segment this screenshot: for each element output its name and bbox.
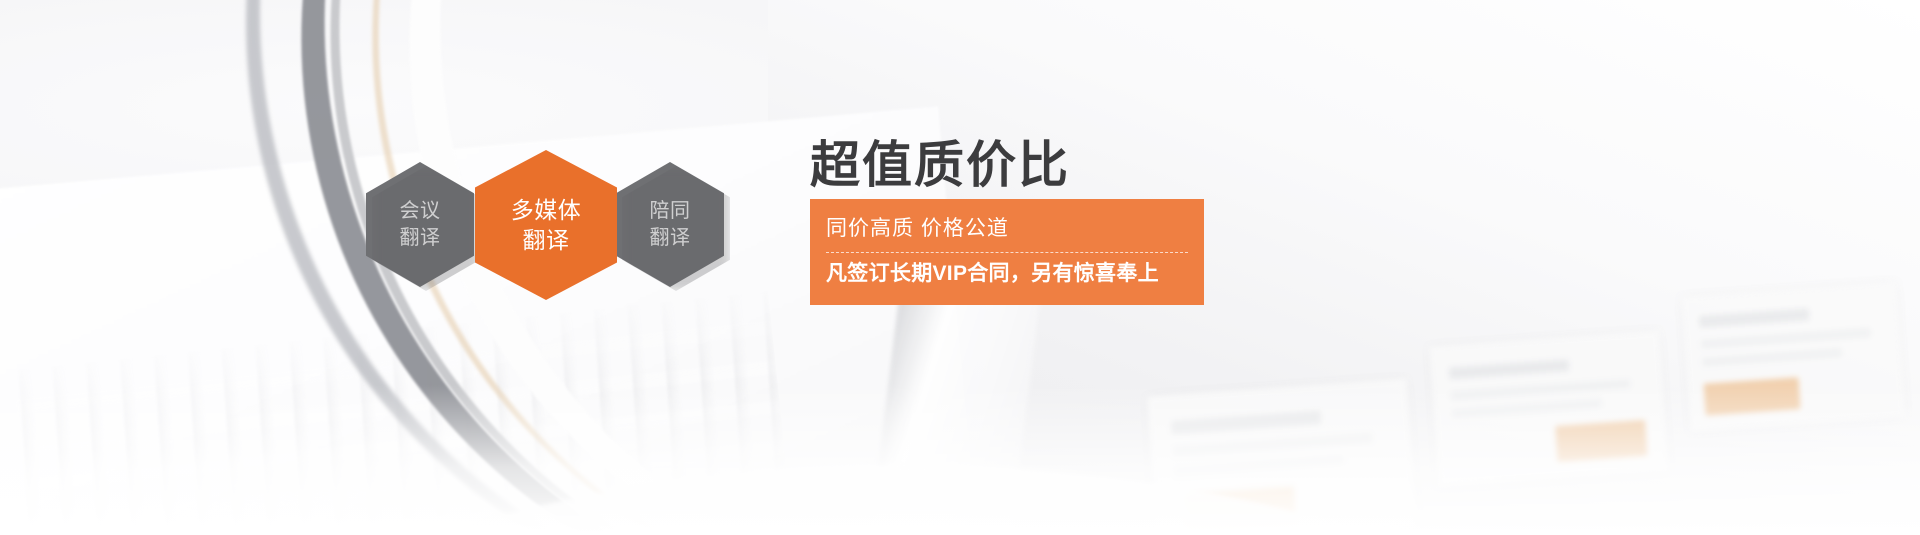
background-bottom-fade [0, 385, 1920, 535]
hexagon-label-line-1: 多媒体 [511, 195, 582, 225]
page-title: 超值质价比 [810, 136, 1290, 195]
hexagon-label-line-2: 翻译 [523, 225, 570, 255]
promo-divider [826, 252, 1188, 253]
promo-offer-text: 凡签订长期VIP合同，另有惊喜奉上 [810, 259, 1204, 289]
copy-block: 超值质价比 [810, 136, 1290, 195]
service-hexagon-group: 会议 翻译 陪同 翻译 多媒体 翻译 [366, 150, 726, 300]
promo-tagline: 同价高质 价格公道 [810, 213, 1204, 245]
promo-panel: 同价高质 价格公道 凡签订长期VIP合同，另有惊喜奉上 [810, 199, 1204, 305]
promo-banner: 会议 翻译 陪同 翻译 多媒体 翻译 超值质价比 同价高质 价格公道 凡签订长期… [0, 0, 1920, 535]
hexagon-multimedia-translation[interactable]: 多媒体 翻译 [475, 150, 617, 300]
